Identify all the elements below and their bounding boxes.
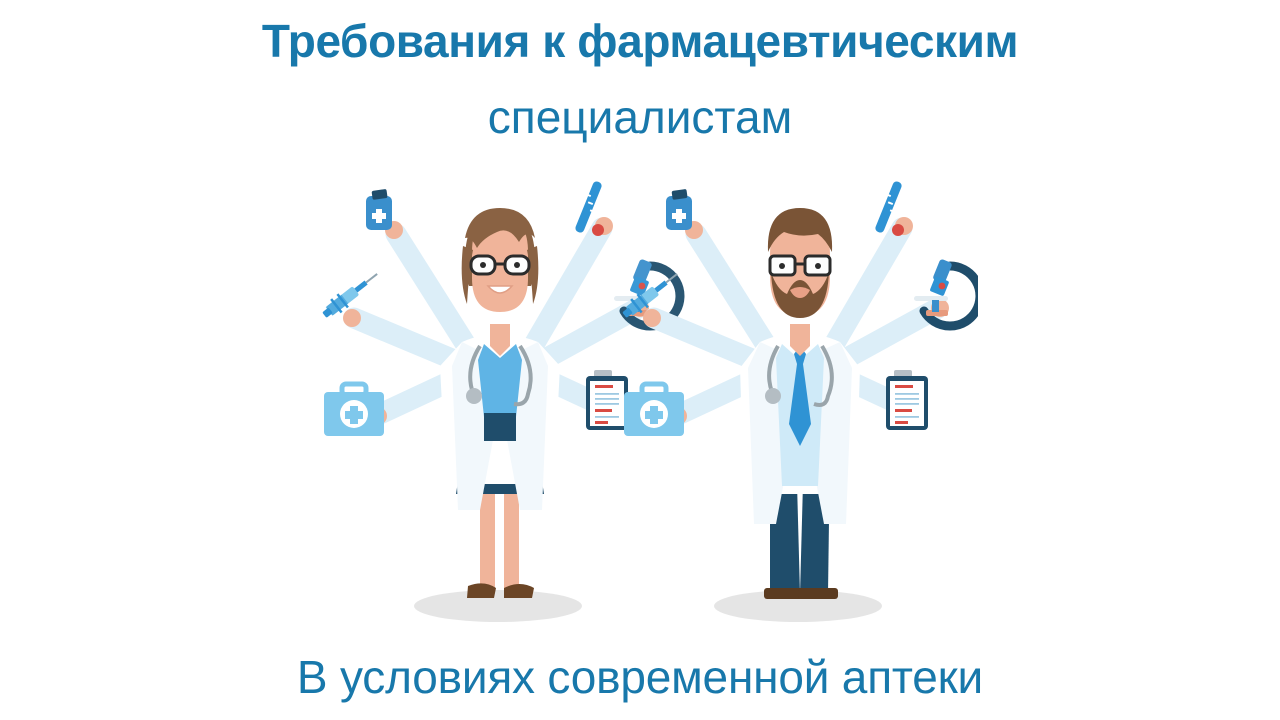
slide-canvas: Требования к фармацевтическим специалист… [0, 0, 1280, 720]
pharmacist-illustration [318, 168, 978, 638]
clipboard-icon [586, 370, 628, 430]
thermometer-icon [574, 180, 604, 236]
female-shadow [414, 590, 582, 622]
clipboard-icon [886, 370, 928, 430]
female-stethoscope-bell [466, 388, 482, 404]
subtitle: В условиях современной аптеки [0, 650, 1280, 704]
male-shoe-right [798, 588, 838, 599]
medicine-bottle-icon [366, 189, 392, 230]
title-line-2: специалистам [0, 90, 1280, 144]
figure-male-pharmacist [619, 180, 978, 622]
medicine-bottle-icon [666, 189, 692, 230]
first-aid-kit-icon [324, 384, 384, 436]
microscope-icon [914, 259, 978, 326]
first-aid-kit-icon [624, 384, 684, 436]
male-head [768, 208, 832, 318]
thermometer-icon [874, 180, 904, 236]
male-stethoscope-bell [765, 388, 781, 404]
female-head [462, 208, 539, 312]
subtitle-text: В условиях современной аптеки [297, 651, 983, 703]
title-line-1: Требования к фармацевтическим [0, 14, 1280, 68]
female-shoe-right [504, 584, 534, 598]
page-title: Требования к фармацевтическим специалист… [0, 14, 1280, 145]
